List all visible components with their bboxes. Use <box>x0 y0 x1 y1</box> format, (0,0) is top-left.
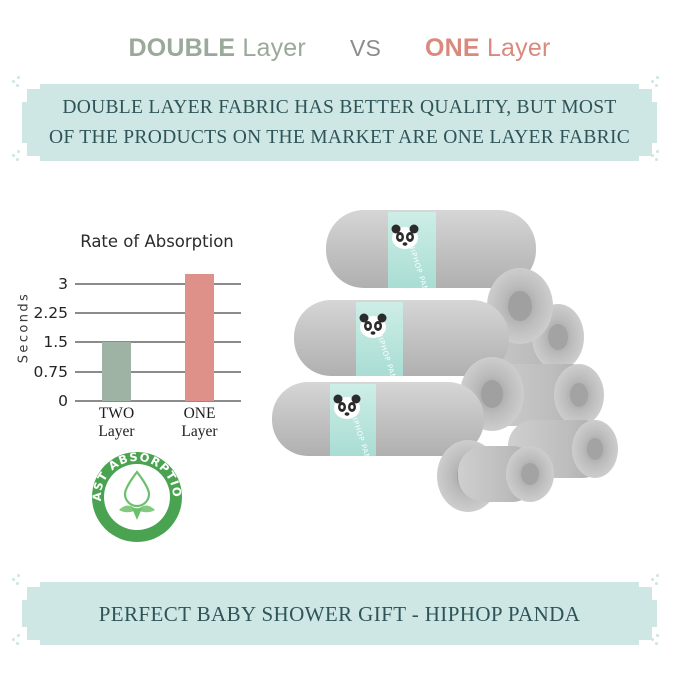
chart-gridline: 1.5 <box>75 341 241 343</box>
bottom-banner-corner-dots-top-left <box>12 574 26 588</box>
bottom-banner-line-1: PERFECT BABY SHOWER GIFT - HIPHOP PANDA <box>99 599 581 629</box>
fast-absorption-badge-graphic: FAST ABSORPTION <box>84 444 190 550</box>
chart-x-tick-line: ONE <box>155 405 245 423</box>
chart-title: Rate of Absorption <box>62 232 252 251</box>
bottom-banner-corner-dots-bottom-right <box>651 634 665 648</box>
chart-y-axis-label: Seconds <box>17 280 32 376</box>
chart-x-tick-line: TWO <box>72 405 162 423</box>
chart-bar <box>185 274 214 401</box>
header-label-double-layer: DOUBLE Layer <box>128 34 305 63</box>
bottom-banner-corner-dots-bottom-left <box>12 634 26 648</box>
product-image-towel-stack: HIPHOP PANDA HIPHOP PANDA <box>268 196 628 552</box>
header-label-one-layer: ONE Layer <box>425 34 550 63</box>
chart-x-tick-line: Layer <box>155 423 245 441</box>
banner-corner-dots-bottom-right <box>651 150 665 164</box>
chart-x-tick-line: Layer <box>72 423 162 441</box>
header-label-vs: VS <box>350 35 381 62</box>
header-one-strong: ONE <box>425 34 480 62</box>
chart-gridline: 0.75 <box>75 371 241 373</box>
fast-absorption-badge: FAST ABSORPTION <box>84 444 190 550</box>
bottom-message-banner: PERFECT BABY SHOWER GIFT - HIPHOP PANDA <box>22 582 657 645</box>
chart-y-tick-label: 2.25 <box>33 304 68 322</box>
towel-stack-graphic: HIPHOP PANDA HIPHOP PANDA <box>268 196 628 552</box>
chart-gridline: 2.25 <box>75 312 241 314</box>
towel-roll-front-center <box>458 446 554 502</box>
chart-gridline: 0 <box>75 400 241 402</box>
chart-plot-area: 00.751.52.253TWOLayerONELayer <box>75 264 241 401</box>
top-banner-line-2: OF THE PRODUCTS ON THE MARKET ARE ONE LA… <box>49 123 630 153</box>
banner-corner-dots-top-right <box>651 76 665 90</box>
absorption-bar-chart: Rate of Absorption Seconds 00.751.52.253… <box>0 228 262 443</box>
top-banner-line-1: DOUBLE LAYER FABRIC HAS BETTER QUALITY, … <box>62 93 616 123</box>
bottom-banner-corner-dots-top-right <box>651 574 665 588</box>
chart-x-tick-label: ONELayer <box>155 405 245 441</box>
chart-y-tick-label: 3 <box>58 275 68 293</box>
header-double-rest: Layer <box>235 34 306 62</box>
header-double-strong: DOUBLE <box>128 34 235 62</box>
banner-corner-dots-bottom-left <box>12 150 26 164</box>
comparison-header: DOUBLE Layer VS ONE Layer <box>0 26 679 70</box>
chart-y-tick-label: 0.75 <box>33 363 68 381</box>
top-message-banner: DOUBLE LAYER FABRIC HAS BETTER QUALITY, … <box>22 84 657 161</box>
banner-corner-dots-top-left <box>12 76 26 90</box>
chart-y-tick-label: 1.5 <box>43 333 68 351</box>
chart-gridline: 3 <box>75 283 241 285</box>
chart-bar <box>102 342 131 401</box>
header-one-rest: Layer <box>480 34 551 62</box>
chart-x-tick-label: TWOLayer <box>72 405 162 441</box>
chart-y-tick-label: 0 <box>58 392 68 410</box>
